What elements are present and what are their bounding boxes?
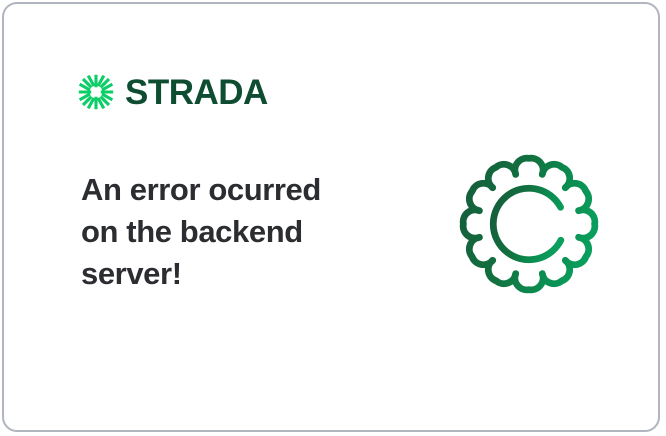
brand-logo: STRADA bbox=[78, 74, 268, 110]
gear-outer-ring bbox=[463, 158, 595, 290]
gear-inner-arc bbox=[493, 188, 561, 260]
error-headline: An error ocurred on the backend server! bbox=[81, 169, 381, 295]
strada-asterisk-icon bbox=[78, 74, 114, 110]
gear-cog-icon bbox=[451, 146, 607, 302]
error-card: STRADA An error ocurred on the backend s… bbox=[2, 2, 660, 432]
brand-wordmark: STRADA bbox=[125, 75, 268, 110]
